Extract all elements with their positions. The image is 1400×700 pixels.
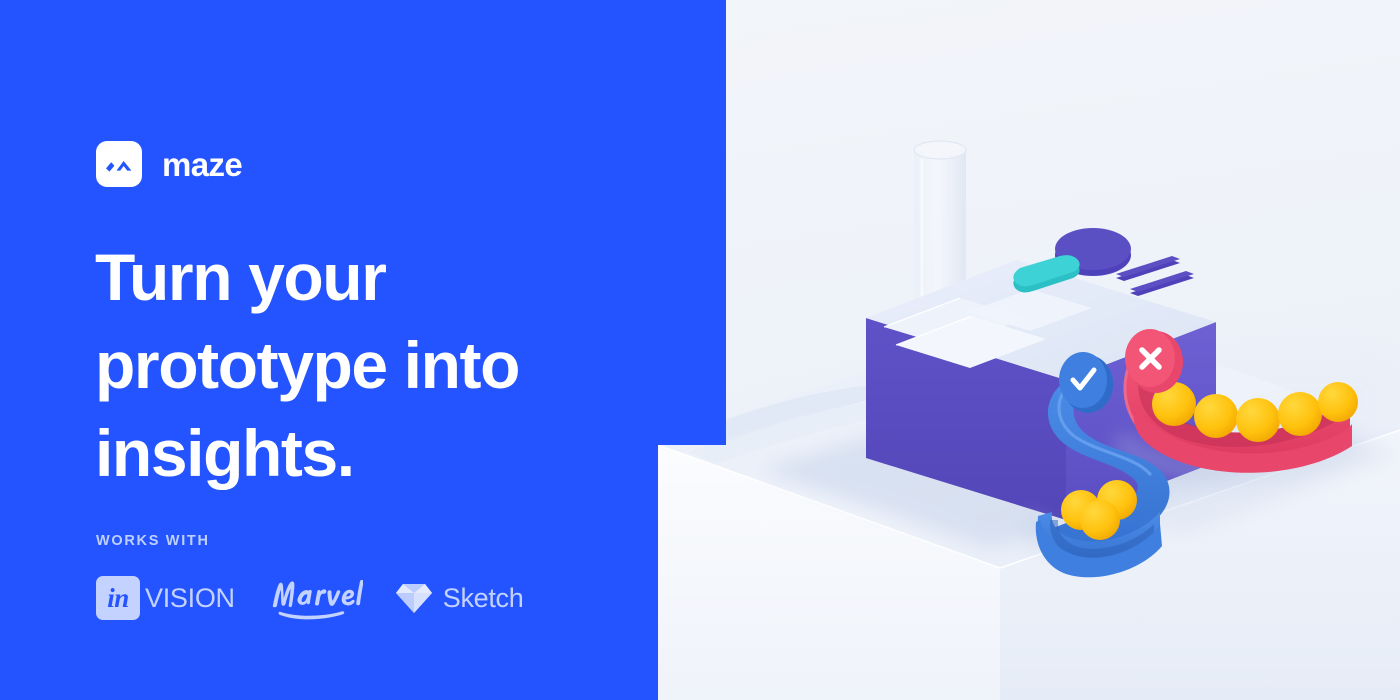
partner-logos: in VISION — [96, 575, 523, 621]
ball — [1080, 500, 1120, 540]
invision-in-text: in — [107, 585, 129, 612]
ball — [1236, 398, 1280, 442]
brand-logo[interactable]: maze — [96, 141, 242, 187]
invision-logo-icon: in — [96, 576, 140, 620]
hero-banner: maze Turn your prototype into insights. … — [0, 0, 1400, 700]
works-with-label: WORKS WITH — [96, 533, 210, 549]
marvel-logo-icon — [267, 575, 363, 621]
maze-chevron-mark-icon — [96, 141, 142, 187]
partner-marvel[interactable] — [267, 575, 363, 621]
sketch-diamond-icon — [395, 580, 433, 616]
ball — [1318, 382, 1358, 422]
brand-wordmark: maze — [162, 148, 242, 181]
ball — [1194, 394, 1238, 438]
ball — [1278, 392, 1322, 436]
hero-content: maze Turn your prototype into insights. … — [0, 0, 660, 700]
page-title: Turn your prototype into insights. — [95, 233, 635, 497]
partner-invision[interactable]: in VISION — [96, 576, 235, 620]
partner-sketch[interactable]: Sketch — [395, 580, 524, 616]
headline-text: Turn your prototype into insights. — [95, 240, 519, 490]
sketch-text: Sketch — [443, 585, 524, 612]
invision-vision-text: VISION — [145, 585, 235, 612]
